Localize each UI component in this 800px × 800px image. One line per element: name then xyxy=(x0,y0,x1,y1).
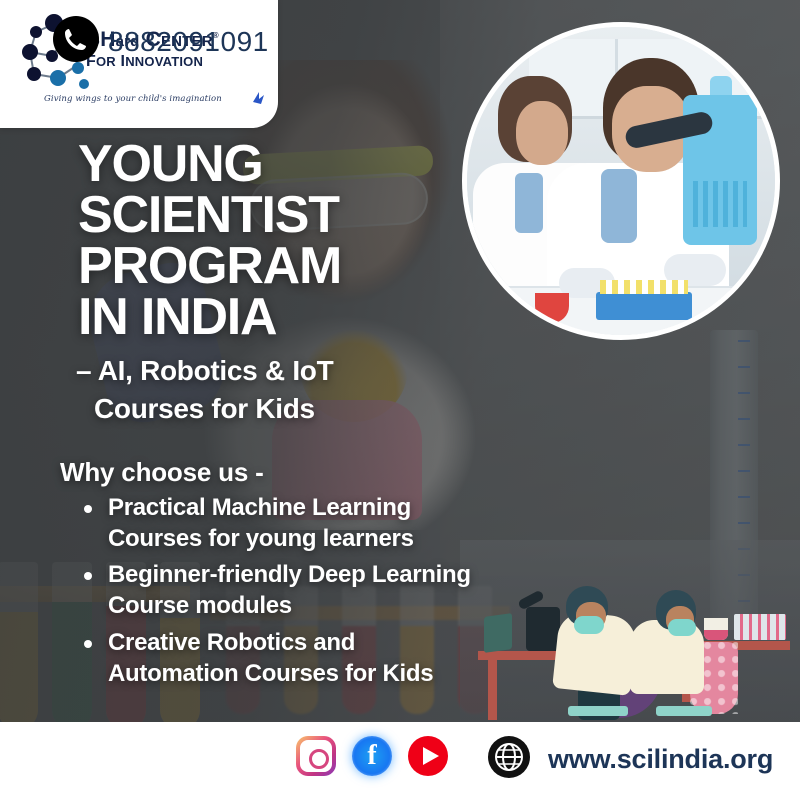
promo-poster: SHard CENTER® FOR INNOVATION Giving wing… xyxy=(0,0,800,800)
headline-line-4: IN INDIA xyxy=(78,292,478,343)
female-scientist-face xyxy=(516,101,568,165)
youtube-icon[interactable] xyxy=(408,736,448,776)
logo-card: SHard CENTER® FOR INNOVATION Giving wing… xyxy=(0,0,278,128)
illustration-stool-right xyxy=(656,706,712,716)
illustration-beaker xyxy=(704,618,728,640)
wing-icon xyxy=(250,90,266,106)
facebook-f-glyph: f xyxy=(352,740,392,772)
red-flask xyxy=(535,293,569,323)
illustration-laptop xyxy=(484,613,512,653)
logo-tagline: Giving wings to your child's imagination xyxy=(44,94,266,104)
lab-illustration xyxy=(460,540,800,722)
social-links: f xyxy=(296,736,448,776)
page-title: YOUNG SCIENTIST PROGRAM IN INDIA xyxy=(78,139,478,343)
subtitle: – AI, Robotics & IoT Courses for Kids xyxy=(76,352,476,427)
list-item: Beginner-friendly Deep Learning Course m… xyxy=(78,560,478,621)
facebook-icon[interactable]: f xyxy=(352,736,392,776)
headline-line-2: SCIENTIST xyxy=(78,190,478,241)
phone-icon[interactable] xyxy=(53,16,99,62)
subtitle-line-1: – AI, Robotics & IoT xyxy=(76,352,476,390)
headline-line-3: PROGRAM xyxy=(78,241,478,292)
website-url[interactable]: www.scilindia.org xyxy=(548,744,773,775)
list-item: Practical Machine Learning Courses for y… xyxy=(78,493,478,554)
illustration-stool-left xyxy=(568,706,628,716)
globe-icon xyxy=(488,736,530,778)
phone-number[interactable]: 8882091091 xyxy=(108,26,269,58)
illustration-person-right-mask xyxy=(668,619,696,636)
illustration-test-tubes xyxy=(734,614,786,640)
instagram-icon[interactable] xyxy=(296,736,336,776)
benefits-list: Practical Machine Learning Courses for y… xyxy=(78,493,478,695)
subtitle-line-2: Courses for Kids xyxy=(76,390,476,428)
sample-tube-rack xyxy=(596,292,692,320)
why-choose-us-heading: Why choose us - xyxy=(60,457,264,488)
illustration-person-left-mask xyxy=(574,616,604,634)
circular-scientists-photo xyxy=(462,22,780,340)
list-item: Creative Robotics and Automation Courses… xyxy=(78,628,478,689)
illustration-microscope xyxy=(526,607,560,651)
headline-line-1: YOUNG xyxy=(78,139,478,190)
